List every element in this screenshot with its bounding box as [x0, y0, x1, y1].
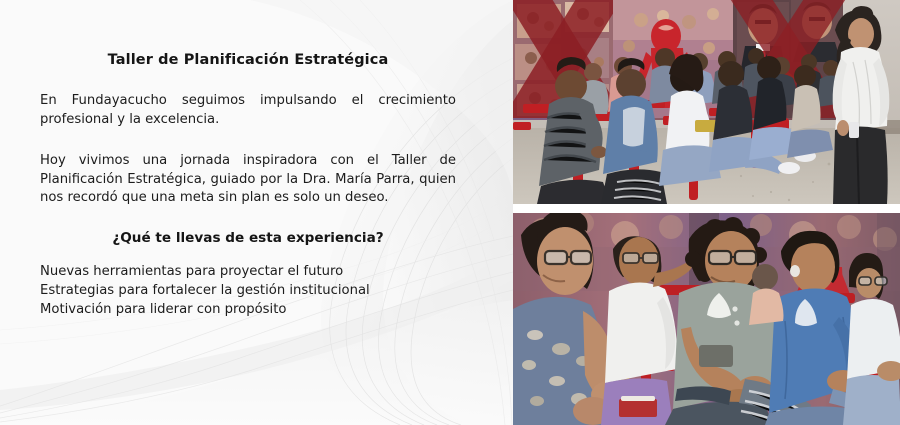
slide-text-block: Taller de Planificación Estratégica En F… [40, 52, 456, 320]
list-item: Nuevas herramientas para proyectar el fu… [40, 263, 456, 282]
photo-bottom-graphic [513, 213, 900, 425]
text-panel: Taller de Planificación Estratégica En F… [0, 0, 513, 425]
slide-canvas: Taller de Planificación Estratégica En F… [0, 0, 900, 425]
body-paragraph: Hoy vivimos una jornada inspiradora con … [40, 152, 456, 208]
takeaways-list: Nuevas herramientas para proyectar el fu… [40, 263, 456, 319]
list-item: Estrategias para fortalecer la gestión i… [40, 282, 456, 301]
page-title: Taller de Planificación Estratégica [40, 52, 456, 69]
photo-top-graphic [513, 0, 900, 204]
photo-workshop-attendees-closeup [513, 213, 900, 425]
intro-paragraph: En Fundayacucho seguimos impulsando el c… [40, 92, 456, 129]
list-item: Motivación para liderar con propósito [40, 301, 456, 320]
photo-column [513, 0, 900, 425]
photo-workshop-audience-speaker [513, 0, 900, 204]
question-subtitle: ¿Qué te llevas de esta experiencia? [40, 230, 456, 246]
